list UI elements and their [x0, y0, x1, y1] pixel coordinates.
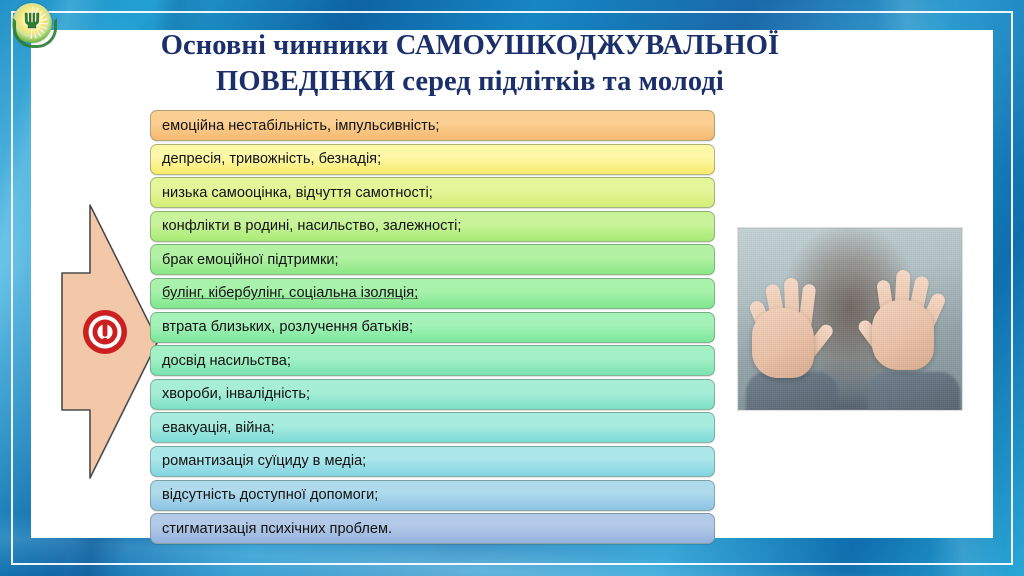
title-line-1: Основні чинники САМОУШКОДЖУВАЛЬНОЇ: [161, 30, 780, 61]
factor-label: низька самооцінка, відчуття самотності;: [162, 185, 433, 201]
factor-label: евакуація, війна;: [162, 420, 275, 436]
factor-label: булінг, кібербулінг, соціальна ізоляція;: [162, 285, 418, 301]
hands-on-glass-photo: [738, 228, 962, 410]
right-arrow-callout: [60, 204, 160, 479]
factor-label: досвід насильства;: [162, 353, 291, 369]
institution-emblem-logo: [9, 2, 55, 46]
factors-list: емоційна нестабільність, імпульсивність;…: [150, 110, 715, 547]
factor-bar: емоційна нестабільність, імпульсивність;: [150, 110, 715, 141]
emblem-wreath-icon: [13, 18, 57, 48]
slide-root: Основні чинники САМОУШКОДЖУВАЛЬНОЇ ПОВЕД…: [0, 0, 1024, 576]
factor-label: відсутність доступної допомоги;: [162, 487, 378, 503]
factor-bar: брак емоційної підтримки;: [150, 244, 715, 275]
factor-label: романтизація суїциду в медіа;: [162, 453, 366, 469]
factor-bar: досвід насильства;: [150, 345, 715, 376]
factor-bar: відсутність доступної допомоги;: [150, 480, 715, 511]
factor-label: конфлікти в родині, насильство, залежнос…: [162, 218, 461, 234]
factor-bar: втрата близьких, розлучення батьків;: [150, 312, 715, 343]
factor-bar: хвороби, інвалідність;: [150, 379, 715, 410]
factor-label: брак емоційної підтримки;: [162, 252, 339, 268]
exclamation-warning-icon: [81, 308, 129, 356]
factor-bar: романтизація суїциду в медіа;: [150, 446, 715, 477]
factor-label: депресія, тривожність, безнадія;: [162, 151, 381, 167]
title-line-2: ПОВЕДІНКИ серед підлітків та молоді: [60, 64, 880, 100]
factor-label: стигматизація психічних проблем.: [162, 521, 392, 537]
factor-label: емоційна нестабільність, імпульсивність;: [162, 118, 440, 134]
factor-bar: стигматизація психічних проблем.: [150, 513, 715, 544]
factor-bar: низька самооцінка, відчуття самотності;: [150, 177, 715, 208]
factor-label: втрата близьких, розлучення батьків;: [162, 319, 413, 335]
factor-bar: конфлікти в родині, насильство, залежнос…: [150, 211, 715, 242]
page-title: Основні чинники САМОУШКОДЖУВАЛЬНОЇ ПОВЕД…: [60, 28, 880, 100]
glass-noise-texture: [738, 228, 962, 410]
factor-bar: евакуація, війна;: [150, 412, 715, 443]
factor-bar: депресія, тривожність, безнадія;: [150, 144, 715, 175]
factor-bar: булінг, кібербулінг, соціальна ізоляція;: [150, 278, 715, 309]
factor-label: хвороби, інвалідність;: [162, 386, 310, 402]
